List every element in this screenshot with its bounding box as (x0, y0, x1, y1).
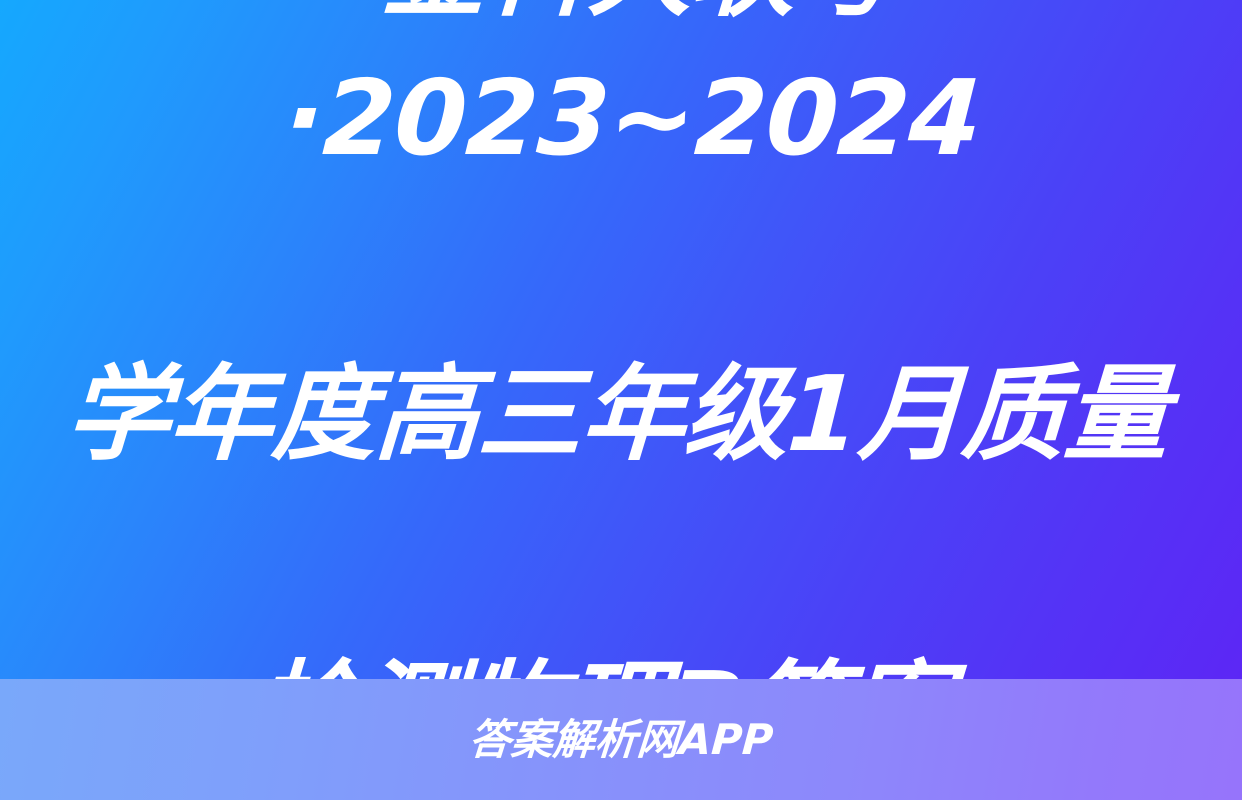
watermark-label: 答案解析网APP (467, 719, 774, 761)
title-line-1: 金科大联考·2023~2024 (48, 0, 1226, 192)
hero-gradient-panel: 金科大联考·2023~2024 学年度高三年级1月质量 检测物理B答案 (0, 0, 1242, 679)
poster-canvas: 金科大联考·2023~2024 学年度高三年级1月质量 检测物理B答案 答案解析… (0, 0, 1242, 800)
watermark-band: 答案解析网APP (0, 679, 1242, 800)
title-line-2: 学年度高三年级1月质量 (32, 340, 1202, 488)
